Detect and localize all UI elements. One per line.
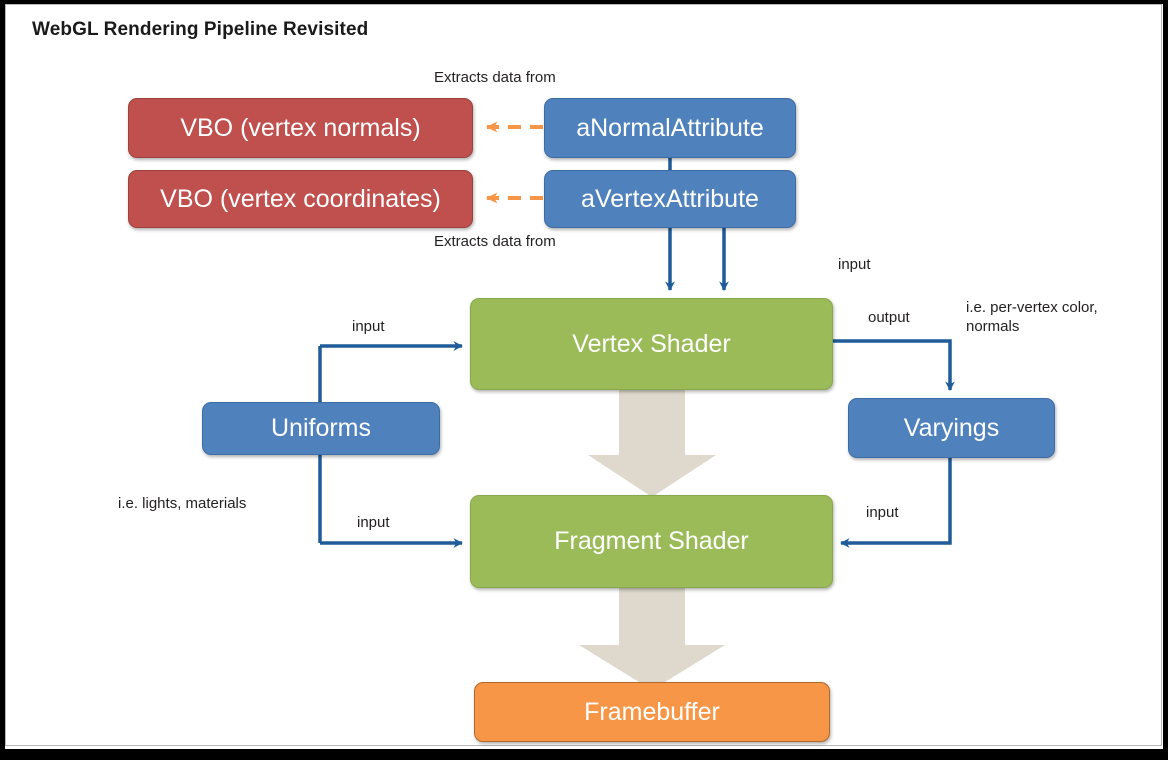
label-input-varyings-to-fragment-shader: input — [866, 503, 899, 522]
border-left — [0, 0, 5, 760]
node-label: VBO (vertex coordinates) — [160, 185, 441, 214]
node-label: Vertex Shader — [572, 330, 730, 359]
border-bottom — [0, 749, 1168, 760]
node-label: aVertexAttribute — [581, 185, 759, 214]
border-right — [1163, 0, 1168, 760]
node-vbo-vertex-coordinates[interactable]: VBO (vertex coordinates) — [128, 170, 473, 228]
node-vertex-shader[interactable]: Vertex Shader — [470, 298, 833, 390]
node-label: Fragment Shader — [554, 527, 749, 556]
node-avertexattribute[interactable]: aVertexAttribute — [544, 170, 796, 228]
node-varyings[interactable]: Varyings — [848, 398, 1055, 458]
node-label: aNormalAttribute — [576, 114, 764, 143]
node-label: VBO (vertex normals) — [180, 114, 420, 143]
label-note-varyings: i.e. per-vertex color, normals — [966, 298, 1116, 336]
label-input-uniforms-to-vertex-shader: input — [352, 317, 385, 336]
label-input-uniforms-to-fragment-shader: input — [357, 513, 390, 532]
node-framebuffer[interactable]: Framebuffer — [474, 682, 830, 742]
label-output-vertex-shader: output — [868, 308, 910, 327]
page-title: WebGL Rendering Pipeline Revisited — [32, 19, 368, 41]
label-input-varyings-top: input — [838, 255, 871, 274]
diagram-canvas: WebGL Rendering Pipeline Revisited — [0, 0, 1168, 760]
node-fragment-shader[interactable]: Fragment Shader — [470, 495, 833, 588]
label-extracts-data-from-top: Extracts data from — [434, 68, 556, 87]
node-vbo-vertex-normals[interactable]: VBO (vertex normals) — [128, 98, 473, 158]
node-uniforms[interactable]: Uniforms — [202, 402, 440, 455]
label-note-uniforms: i.e. lights, materials — [118, 494, 246, 513]
label-extracts-data-from-bottom: Extracts data from — [434, 232, 556, 251]
node-label: Uniforms — [271, 414, 371, 443]
border-top — [0, 0, 1168, 4]
node-label: Varyings — [904, 414, 999, 443]
node-anormalattribute[interactable]: aNormalAttribute — [544, 98, 796, 158]
node-label: Framebuffer — [584, 698, 720, 727]
